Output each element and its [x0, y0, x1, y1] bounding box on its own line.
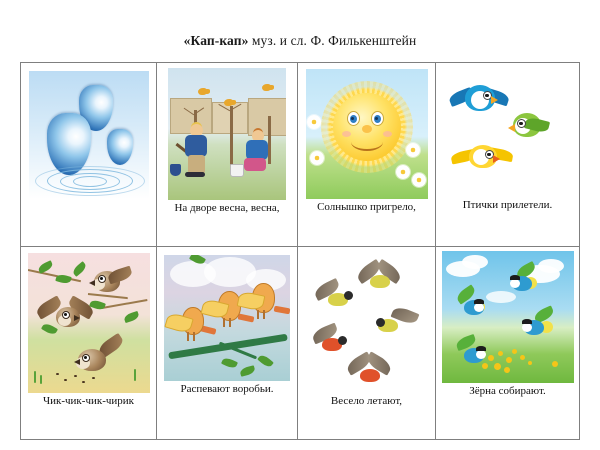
grain-dot [512, 349, 517, 354]
bird-beak [491, 96, 498, 104]
flying-bird-icon [348, 357, 392, 385]
sparrows-illustration [28, 253, 150, 393]
daisy-flower-icon [307, 115, 321, 129]
daisy-flower-icon [412, 173, 426, 187]
grain-dot [482, 363, 488, 369]
bird-wing [106, 266, 133, 285]
grain-dot [552, 361, 558, 367]
cell-caption: На дворе весна, весна, [171, 200, 282, 214]
table-cell-flying-birds[interactable]: Весело летают, [298, 247, 436, 440]
seed-dot [64, 379, 67, 381]
table-cell-cartoon-birds[interactable]: Птички прилетели. [436, 63, 580, 247]
bird-cap [510, 275, 520, 280]
grass-blade [134, 369, 136, 381]
bird-head [338, 336, 347, 345]
bird-beak [508, 124, 515, 132]
sparrow-icon [88, 267, 136, 301]
daisy-flower-icon [310, 151, 324, 165]
bird-head [476, 350, 486, 359]
grass-blade [34, 371, 36, 383]
cloud-shape [462, 255, 488, 269]
sun-eye [347, 111, 360, 126]
leaf-shape [221, 356, 238, 370]
blue-bird-icon [457, 79, 507, 119]
leaf-shape [123, 311, 140, 323]
bird-head [376, 318, 385, 327]
cartoon-birds-illustration [445, 67, 571, 197]
cell-caption: Солнышко пригрело, [314, 199, 419, 213]
bird-body [370, 275, 390, 288]
grain-dot [488, 355, 494, 361]
table-cell-water-drops[interactable] [21, 63, 157, 247]
birds-eating-grain-illustration [442, 251, 574, 383]
seed-dot [92, 377, 95, 379]
grain-dot [504, 367, 510, 373]
grain-dot [506, 357, 512, 363]
bird-cap [474, 299, 484, 304]
cell-caption: Чик-чик-чик-чирик [40, 393, 137, 407]
singing-bird-icon [240, 277, 288, 329]
sun-cheek [342, 131, 351, 137]
seed-dot [74, 375, 77, 377]
grain-dot [494, 363, 501, 370]
bird-eye [98, 275, 106, 283]
cell-caption [86, 199, 92, 201]
bird-leg [229, 318, 231, 327]
titmouse-bird-icon [520, 309, 564, 339]
bird-cap [522, 319, 532, 324]
cell-caption: Весело летают, [328, 393, 405, 407]
lyrics-picture-table: На дворе весна, весна, [20, 62, 580, 440]
bird-head [510, 279, 520, 288]
bird-leg [257, 310, 259, 319]
sparrow-icon [40, 299, 102, 335]
smiling-sun-illustration [306, 69, 428, 199]
leaf-shape [257, 353, 274, 369]
bird-beak [89, 280, 95, 286]
girl-torso [246, 140, 268, 160]
titmouse-bird-icon [456, 289, 500, 319]
bird-head [522, 323, 532, 332]
paint-bucket [230, 164, 244, 177]
table-cell-birds-eating-grain[interactable]: Зёрна собирают. [436, 247, 580, 440]
yellow-bird-icon [461, 139, 511, 179]
bird-leg [193, 332, 195, 341]
boy-shoes [185, 172, 205, 177]
bird-leg [187, 332, 189, 341]
leaf-shape [71, 261, 88, 277]
page-title: «Кап-кап» муз. и сл. Ф. Филькенштейн [0, 33, 600, 49]
song-name: «Кап-кап» [184, 33, 249, 48]
table-row: Чик-чик-чик-чирик [21, 247, 580, 440]
grain-dot [498, 351, 503, 356]
boy-torso [185, 135, 207, 157]
bird-beak [74, 359, 80, 365]
bird-head [474, 303, 484, 312]
girl-legs [244, 158, 266, 171]
grain-dot [528, 361, 532, 365]
tree-trunk [230, 106, 233, 170]
table-cell-children-planting[interactable]: На дворе весна, весна, [157, 63, 298, 247]
butterfly-icon [198, 88, 207, 95]
leaf-shape [55, 273, 72, 285]
flying-bird-icon [376, 309, 420, 337]
table-cell-sparrows[interactable]: Чик-чик-чик-чирик [21, 247, 157, 440]
table-cell-sun[interactable]: Солнышко пригрело, [298, 63, 436, 247]
sparrow-icon [74, 339, 130, 377]
sun-nose [362, 125, 372, 133]
leaf-shape [239, 365, 256, 377]
table-cell-birds-on-branch[interactable]: Распевают воробьи. [157, 247, 298, 440]
bird-beak [493, 155, 500, 163]
ripple-ring [73, 176, 107, 187]
sun-face [333, 93, 401, 161]
boy-with-spade [182, 124, 212, 176]
bird-cap [476, 346, 486, 351]
bird-body [360, 369, 380, 382]
girl-painting-tree [242, 130, 272, 176]
titmouse-bird-icon [454, 337, 498, 367]
seed-dot [56, 373, 59, 375]
cell-caption: Зёрна собирают. [466, 383, 548, 397]
sun-eye [371, 111, 384, 126]
bird-eye [82, 354, 90, 362]
cell-caption: Птички прилетели. [460, 197, 556, 211]
daisy-flower-icon [396, 165, 410, 179]
bird-head [344, 291, 353, 300]
spade-blade [170, 164, 181, 176]
titmouse-bird-icon [504, 265, 548, 295]
bird-leg [263, 310, 265, 319]
bird-eye [517, 119, 526, 128]
sun-smile [351, 133, 383, 151]
bird-beak [74, 315, 80, 321]
daisy-flower-icon [406, 143, 420, 157]
children-planting-trees-illustration [168, 68, 286, 200]
flying-bird-icon [312, 327, 356, 355]
sun-cheek [383, 131, 392, 137]
table-row: На дворе весна, весна, [21, 63, 580, 247]
flying-bird-icon [314, 283, 358, 311]
flying-birds-illustration [304, 253, 430, 393]
bird-leg [223, 318, 225, 327]
cell-caption: Распевают воробьи. [177, 381, 276, 395]
bird-tail [274, 306, 290, 315]
seed-dot [82, 381, 85, 383]
song-credits: муз. и сл. Ф. Филькенштейн [252, 33, 416, 48]
butterfly-icon [262, 84, 271, 91]
green-bird-icon [507, 107, 557, 147]
water-drops-illustration [29, 71, 149, 199]
birds-on-branch-illustration [164, 255, 290, 381]
grain-dot [520, 355, 525, 360]
worksheet-page: «Кап-кап» муз. и сл. Ф. Филькенштейн [0, 0, 600, 450]
butterfly-icon [224, 99, 233, 106]
flying-bird-icon [358, 265, 402, 293]
bird-eye [62, 311, 70, 319]
water-drop-icon [107, 129, 133, 165]
grass-blade [40, 375, 42, 384]
